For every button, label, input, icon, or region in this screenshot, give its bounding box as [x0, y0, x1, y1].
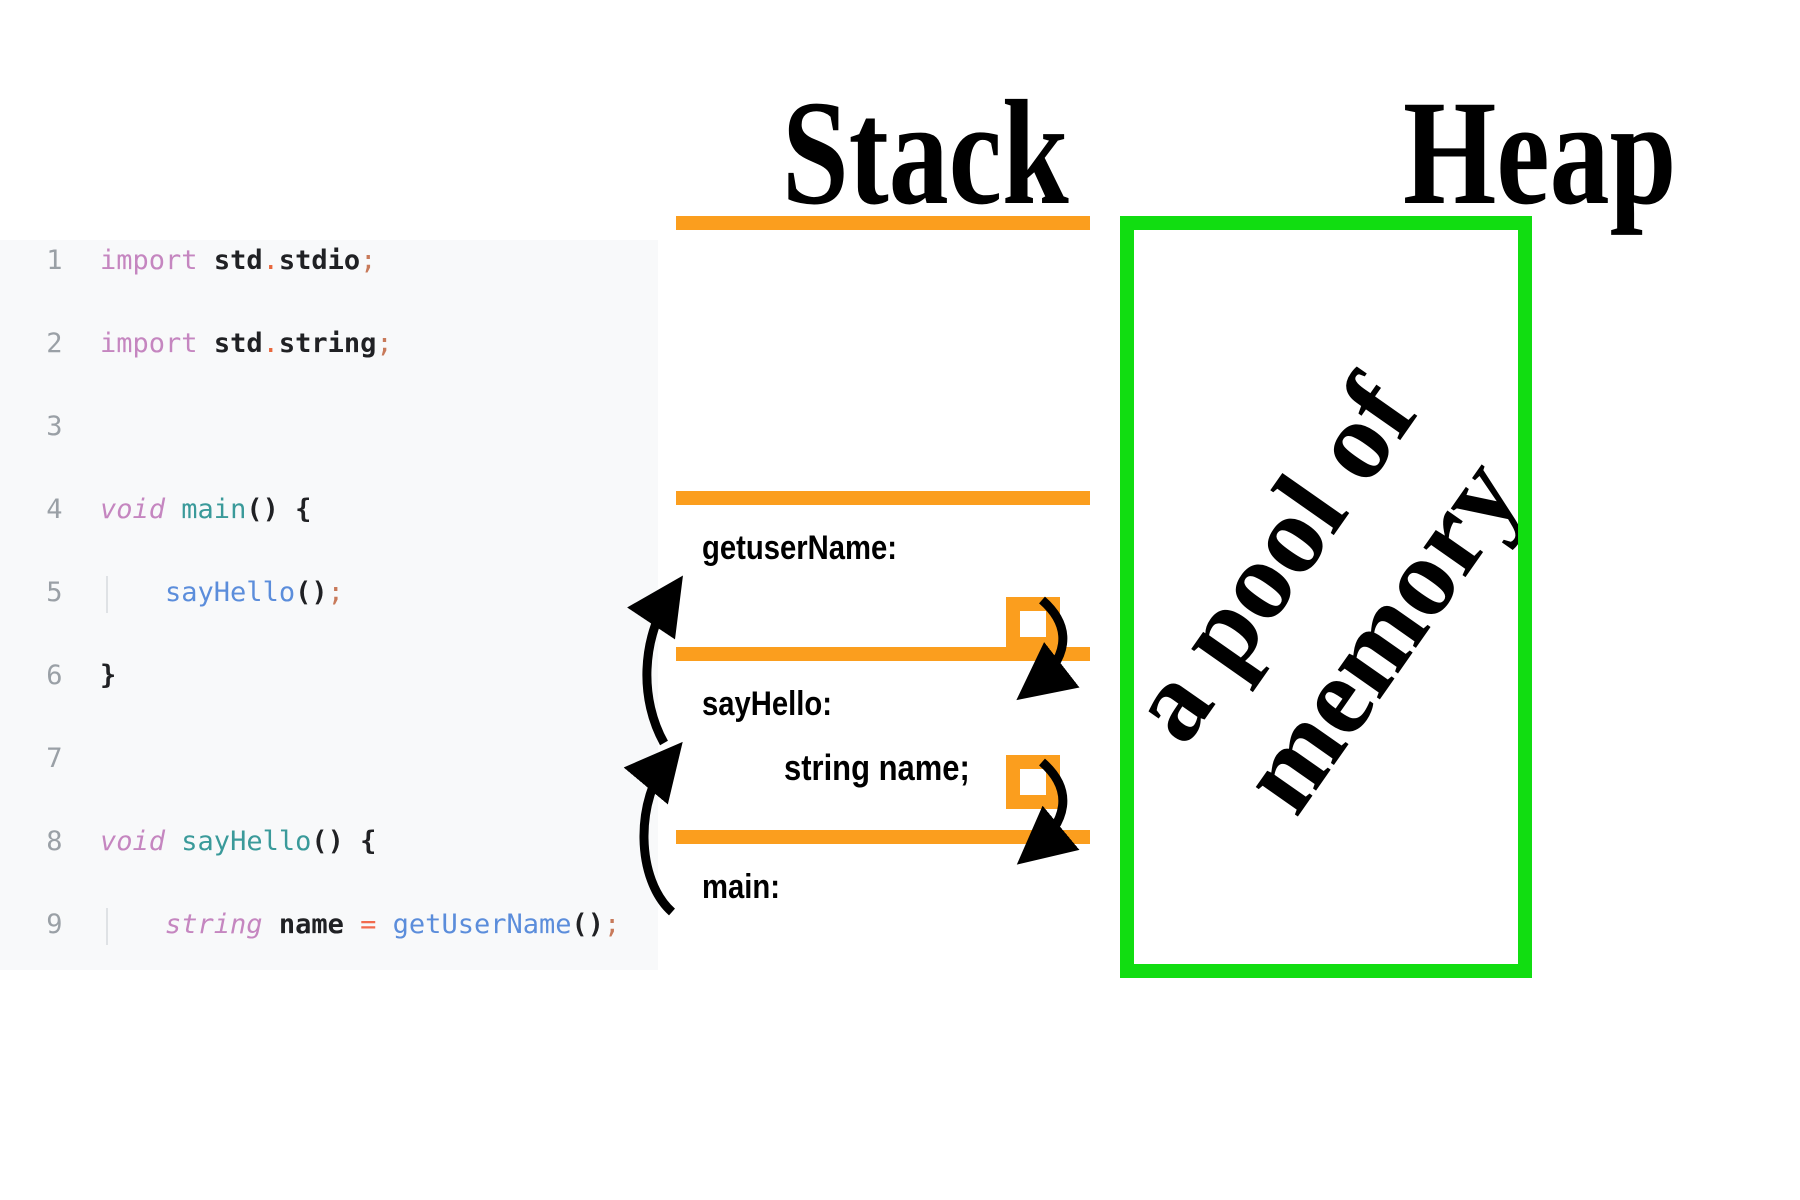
line-number: 8: [0, 821, 62, 863]
code-text: void sayHello() {: [100, 821, 376, 863]
stack-frame-main: main:: [676, 830, 1090, 1006]
stack-frame-variable: string name;: [784, 747, 970, 789]
code-line[interactable]: 6 }: [0, 655, 658, 697]
code-text: }: [100, 655, 116, 697]
code-line[interactable]: 2 import std.string;: [0, 323, 658, 365]
code-line[interactable]: 7: [0, 738, 658, 780]
line-number: 6: [0, 655, 62, 697]
code-text: sayHello();: [100, 572, 344, 614]
line-number: 5: [0, 572, 62, 614]
stack-container: getuserName: sayHello: string name; main…: [676, 216, 1090, 978]
stack-title: Stack: [782, 78, 1069, 228]
code-text: import std.stdio;: [100, 240, 376, 282]
code-line[interactable]: 9 string name = getUserName();: [0, 904, 658, 946]
line-number: 9: [0, 904, 62, 946]
pointer-slot-sayhello: [1006, 755, 1060, 809]
code-line[interactable]: 1 import std.stdio;: [0, 240, 658, 282]
code-editor-panel[interactable]: 1 import std.stdio; 2 import std.string;…: [0, 240, 658, 970]
heap-description: a pool of memory: [1120, 353, 1532, 841]
code-text: import std.string;: [100, 323, 393, 365]
stack-frame-label: main:: [702, 868, 780, 907]
line-number: 1: [0, 240, 62, 282]
stack-frame-getusername: getuserName:: [676, 491, 1090, 647]
heap-title: Heap: [1403, 78, 1676, 228]
line-number: 7: [0, 738, 62, 780]
code-line[interactable]: 8 void sayHello() {: [0, 821, 658, 863]
code-text: void main() {: [100, 489, 311, 531]
stack-frame-label: sayHello:: [702, 685, 832, 724]
line-number: 3: [0, 406, 62, 448]
stack-frame-empty: [676, 230, 1090, 505]
stack-frame-sayhello: sayHello: string name;: [676, 647, 1090, 830]
line-number: 2: [0, 323, 62, 365]
code-line[interactable]: 5 sayHello();: [0, 572, 658, 614]
stack-frame-label: getuserName:: [702, 529, 897, 568]
pointer-slot-getusername: [1006, 597, 1060, 651]
code-text: string name = getUserName();: [100, 904, 620, 946]
line-number: 4: [0, 489, 62, 531]
code-line[interactable]: 4 void main() {: [0, 489, 658, 531]
heap-container: a pool of memory: [1120, 216, 1532, 978]
code-line[interactable]: 3: [0, 406, 658, 448]
